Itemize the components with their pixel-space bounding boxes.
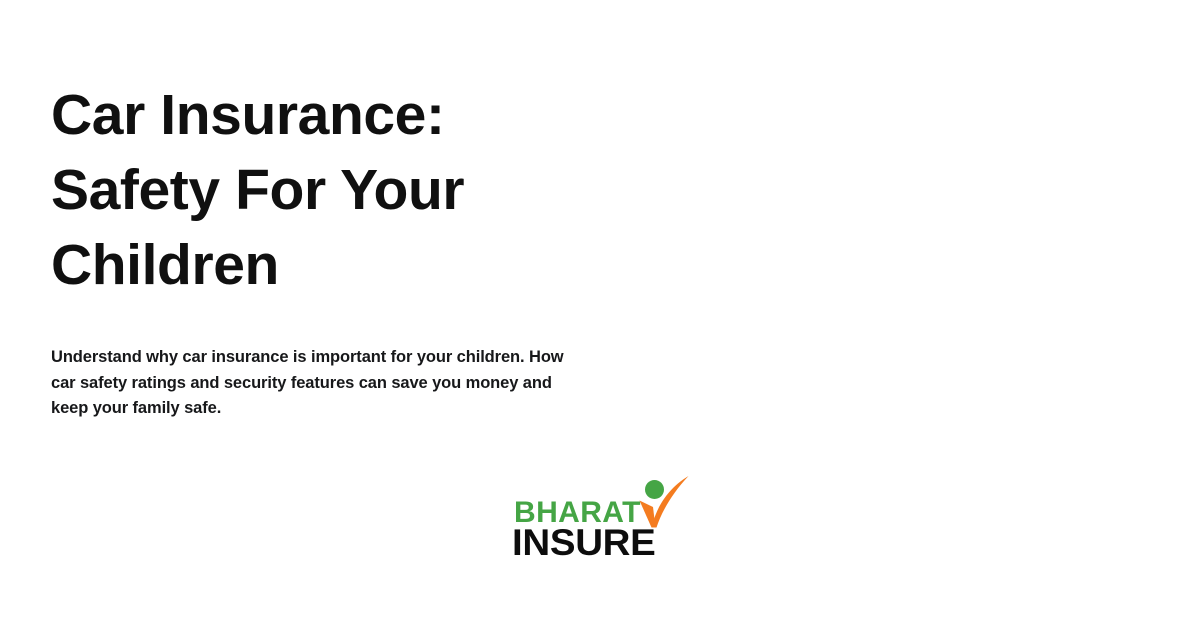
logo-inner: BHARAT INSURE	[512, 472, 688, 564]
hero-text-block: Car Insurance: Safety For Your Children …	[51, 78, 671, 422]
hero-subheading: Understand why car insurance is importan…	[51, 303, 581, 422]
orange-checkmark-with-green-dot-icon	[628, 472, 690, 530]
page-title: Car Insurance: Safety For Your Children	[51, 78, 671, 303]
brand-logo[interactable]: BHARAT INSURE	[0, 472, 1200, 564]
share-card: Car Insurance: Safety For Your Children …	[0, 0, 1200, 630]
